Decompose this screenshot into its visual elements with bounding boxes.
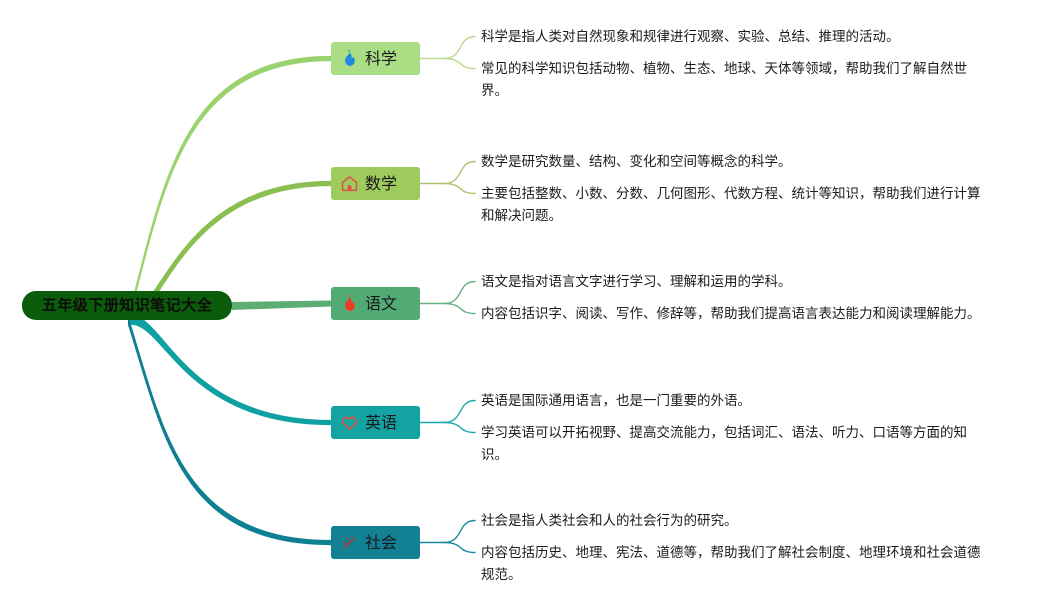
root-node-label: 五年级下册知识笔记大全 xyxy=(42,298,213,313)
mindmap-canvas: 五年级下册知识笔记大全 科学科学是指人类对自然现象和规律进行观察、实验、总结、推… xyxy=(0,0,1045,610)
branch-node-1[interactable]: 科学 xyxy=(331,42,420,75)
leaf-text-group-4: 英语是国际通用语言，也是一门重要的外语。学习英语可以开拓视野、提高交流能力，包括… xyxy=(481,390,993,466)
leaf-text-group-3: 语文是指对语言文字进行学习、理解和运用的学科。内容包括识字、阅读、写作、修辞等，… xyxy=(481,271,993,325)
leaf-text[interactable]: 英语是国际通用语言，也是一门重要的外语。 xyxy=(481,390,993,412)
leaf-text[interactable]: 社会是指人类社会和人的社会行为的研究。 xyxy=(481,510,993,532)
leaf-connector-branch xyxy=(444,543,475,553)
house-icon xyxy=(340,174,359,193)
root-branch-connector xyxy=(128,315,331,425)
branch-node-label: 语文 xyxy=(365,296,397,312)
leaf-text-group-5: 社会是指人类社会和人的社会行为的研究。内容包括历史、地理、宪法、道德等，帮助我们… xyxy=(481,510,993,586)
root-branch-connector xyxy=(128,56,331,325)
red-flame-icon xyxy=(340,294,359,313)
branch-node-2[interactable]: 数学 xyxy=(331,167,420,200)
magic-wand-icon xyxy=(340,533,359,552)
branch-node-label: 社会 xyxy=(365,535,397,551)
leaf-text[interactable]: 内容包括识字、阅读、写作、修辞等，帮助我们提高语言表达能力和阅读理解能力。 xyxy=(481,303,993,325)
leaf-text[interactable]: 主要包括整数、小数、分数、几何图形、代数方程、统计等知识，帮助我们进行计算和解决… xyxy=(481,183,993,227)
leaf-connector-branch xyxy=(444,184,475,194)
root-branch-connector xyxy=(128,315,331,545)
leaf-text[interactable]: 数学是研究数量、结构、变化和空间等概念的科学。 xyxy=(481,151,993,173)
branch-node-label: 英语 xyxy=(365,415,397,431)
leaf-text[interactable]: 语文是指对语言文字进行学习、理解和运用的学科。 xyxy=(481,271,993,293)
leaf-text[interactable]: 常见的科学知识包括动物、植物、生态、地球、天体等领域，帮助我们了解自然世界。 xyxy=(481,58,993,102)
leaf-connector-branch xyxy=(444,37,475,59)
leaf-connector-branch xyxy=(444,304,475,314)
blue-flame-icon xyxy=(340,49,359,68)
branch-node-3[interactable]: 语文 xyxy=(331,287,420,320)
branch-node-label: 科学 xyxy=(365,51,397,67)
branch-node-4[interactable]: 英语 xyxy=(331,406,420,439)
branch-node-label: 数学 xyxy=(365,176,397,192)
leaf-connector-branch xyxy=(444,59,475,69)
heart-icon xyxy=(340,413,359,432)
root-branch-connector xyxy=(232,301,331,311)
leaf-connector-branch xyxy=(444,162,475,184)
leaf-connector-branch xyxy=(444,521,475,543)
root-node[interactable]: 五年级下册知识笔记大全 xyxy=(22,291,232,320)
leaf-text-group-2: 数学是研究数量、结构、变化和空间等概念的科学。主要包括整数、小数、分数、几何图形… xyxy=(481,151,993,227)
leaf-text-group-1: 科学是指人类对自然现象和规律进行观察、实验、总结、推理的活动。常见的科学知识包括… xyxy=(481,26,993,102)
branch-node-5[interactable]: 社会 xyxy=(331,526,420,559)
leaf-text[interactable]: 科学是指人类对自然现象和规律进行观察、实验、总结、推理的活动。 xyxy=(481,26,993,48)
leaf-connector-branch xyxy=(444,401,475,423)
leaf-text[interactable]: 学习英语可以开拓视野、提高交流能力，包括词汇、语法、听力、口语等方面的知识。 xyxy=(481,422,993,466)
leaf-connector-branch xyxy=(444,423,475,433)
leaf-text[interactable]: 内容包括历史、地理、宪法、道德等，帮助我们了解社会制度、地理环境和社会道德规范。 xyxy=(481,542,993,586)
leaf-connector-branch xyxy=(444,282,475,304)
